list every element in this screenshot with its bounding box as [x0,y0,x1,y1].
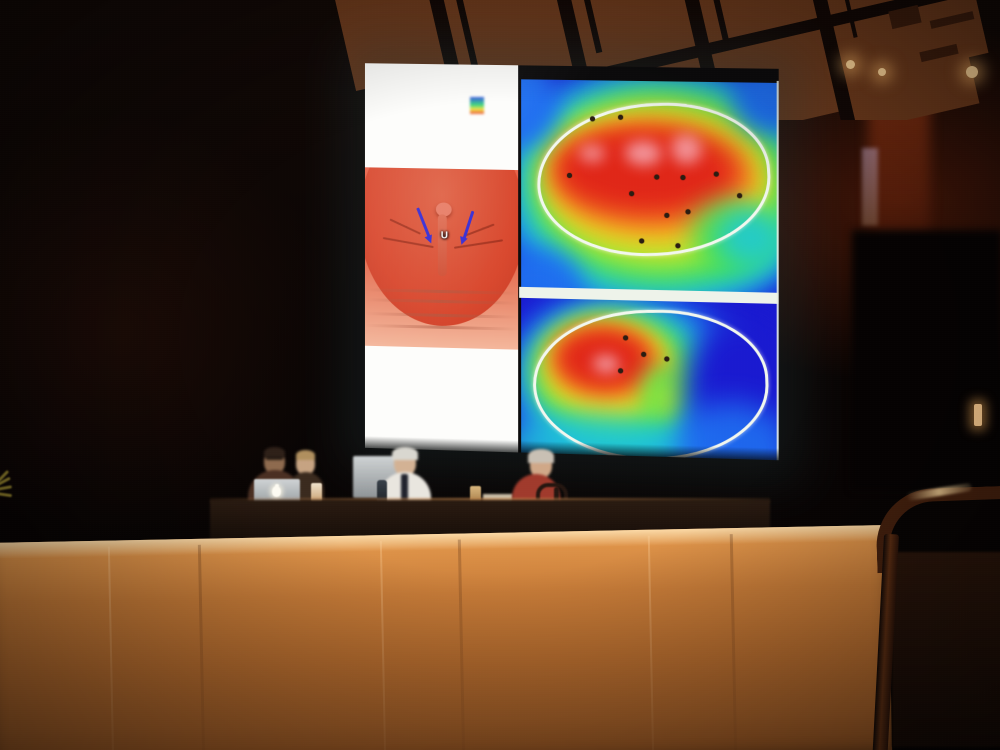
ceiling-spotlight-icon [966,66,978,78]
exit-light-icon [974,404,982,426]
electrode-dot [675,243,680,248]
drape-fold [648,536,654,750]
perfusion-heatmap-top [521,79,779,297]
chair-seat-shadow [892,552,1000,747]
anatomic-midline-structure [438,214,447,276]
draped-foreground-table [0,525,892,750]
plant-sprig [0,476,24,502]
slide-right-margin [777,81,779,460]
perfusion-heatmap-bottom [521,297,779,460]
ceiling-spotlight-icon [846,60,855,69]
presentation-photo-scene: U [0,0,1000,750]
drape-fold [108,547,114,750]
projector-prism-flare [470,97,484,114]
projection-screen: U [365,63,779,460]
endoscopic-anatomy-photo: U [365,167,518,349]
annotation-label-u: U [441,230,449,241]
ceiling-spotlight-icon [878,68,886,76]
electrode-dot [629,191,634,196]
tissue-fold [365,324,518,331]
electrode-dot [680,175,685,180]
electrode-dot [714,172,719,177]
foreground-chair-rail [862,474,997,750]
drape-fold [380,541,386,750]
electrode-dot [685,209,690,214]
electrode-dot [639,238,644,243]
drape-fold [198,545,205,750]
wall-shadow-block [852,230,1000,490]
tissue-flap-outline [531,309,772,461]
wall-light-panel [862,148,878,226]
apple-logo-icon [272,486,281,497]
drape-fold [458,540,465,750]
drape-fold [730,534,737,750]
projected-slide: U [365,63,779,460]
